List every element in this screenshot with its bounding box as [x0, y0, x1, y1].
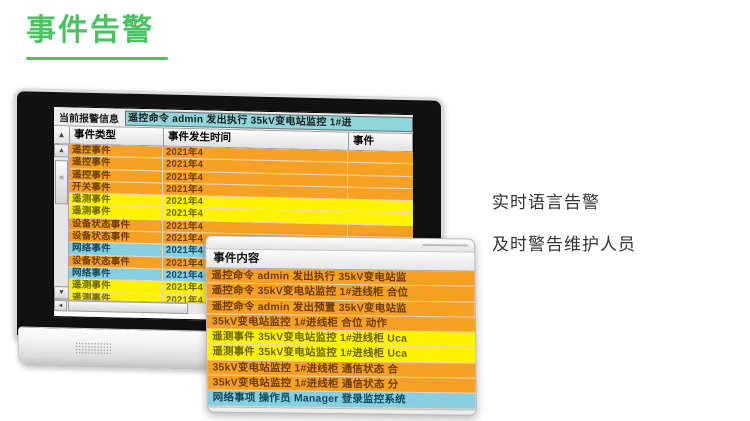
cell-event-type: 遥测事件 — [69, 194, 163, 207]
cell-event-content — [348, 151, 413, 164]
cell-event-type: 遥控事件 — [69, 144, 163, 157]
title-underline-divider — [26, 57, 168, 60]
feature-caption-1: 实时语言告警 — [492, 192, 732, 214]
cell-event-type: 遥控事件 — [69, 157, 163, 170]
cell-event-type: 网络事件 — [69, 243, 163, 256]
scroll-down-arrow-icon[interactable]: ▼ — [54, 286, 69, 299]
current-alarm-label: 当前报警信息 — [57, 109, 125, 126]
cell-event-content — [348, 175, 413, 188]
cell-event-type: 设备状态事件 — [69, 218, 163, 231]
feature-caption-2: 及时警告维护人员 — [492, 234, 732, 256]
horizontal-scroll-thumb[interactable] — [68, 300, 188, 314]
cell-event-content — [348, 212, 413, 225]
page-title-block: 事件告警 — [26, 12, 226, 60]
column-header-event-content[interactable]: 事件 — [349, 133, 413, 151]
cell-event-content — [348, 224, 413, 237]
events-table-vertical-scrollbar[interactable]: ▲ ▼ — [54, 144, 69, 299]
page-title: 事件告警 — [26, 12, 226, 50]
feature-caption-list: 实时语言告警 及时警告维护人员 — [492, 192, 732, 256]
cell-event-content — [348, 200, 413, 213]
cell-event-type: 网络事件 — [69, 267, 163, 280]
vertical-scroll-thumb[interactable] — [55, 160, 68, 204]
scroll-left-arrow-icon[interactable]: ◂ — [54, 300, 67, 311]
cell-event-type: 开关事件 — [69, 181, 163, 194]
cell-event-type: 遥控事件 — [69, 169, 163, 182]
event-content-popup-window[interactable]: 事件内容 遥控命令 admin 发出执行 35kV变电站监遥控命令 35kV变电… — [205, 235, 477, 415]
cell-event-type: 设备状态事件 — [69, 255, 163, 268]
column-sort-indicator[interactable]: ▲ — [54, 126, 70, 143]
column-header-event-type[interactable]: 事件类型 — [70, 126, 164, 145]
cell-event-type: 遥测事件 — [69, 206, 163, 219]
scroll-up-arrow-icon[interactable]: ▲ — [54, 144, 69, 157]
cell-event-type: 遥测事件 — [69, 280, 163, 293]
speaker-grille-left-icon — [75, 342, 111, 355]
cell-event-type: 设备状态事件 — [69, 230, 163, 243]
cell-event-content — [348, 188, 413, 201]
cell-event-content — [348, 163, 413, 176]
popup-event-list: 遥控命令 admin 发出执行 35kV变电站监遥控命令 35kV变电站监控 1… — [206, 268, 475, 409]
monitor-device: 当前报警信息 遥控命令 admin 发出执行 35kV变电站监控 1#进 ▲ 事… — [14, 93, 454, 383]
